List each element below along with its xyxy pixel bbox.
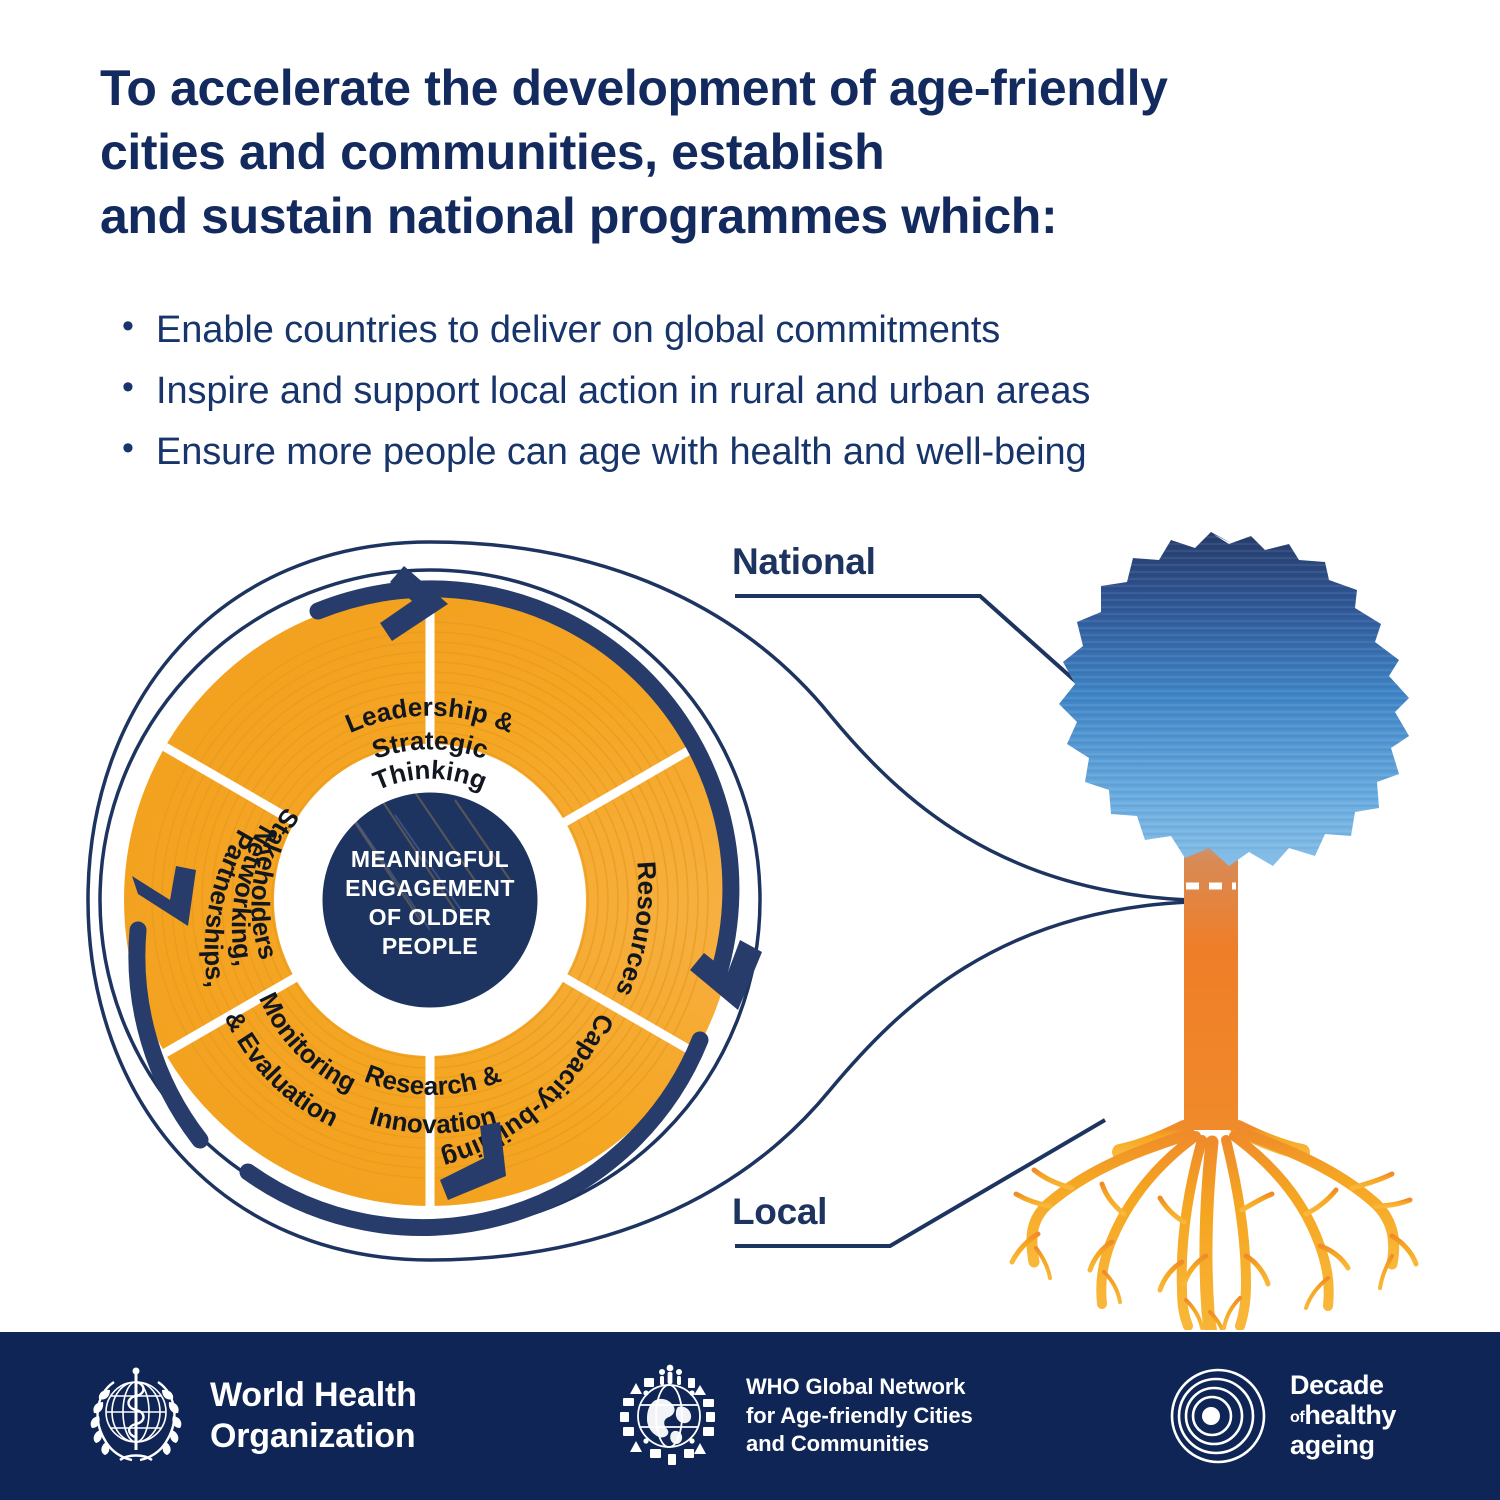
who-logo-text: World Health Organization — [210, 1375, 417, 1457]
headline-line-1: To accelerate the development of age-fri… — [100, 56, 1440, 120]
global-network-logo: WHO Global Network for Age-friendly Citi… — [610, 1332, 973, 1500]
decade-line-2: healthy — [1304, 1400, 1396, 1430]
bullet-text: Enable countries to deliver on global co… — [156, 303, 1000, 358]
bullet-text: Ensure more people can age with health a… — [156, 425, 1087, 480]
who-logo-line-2: Organization — [210, 1416, 417, 1457]
decade-line-3: ageing — [1290, 1431, 1396, 1461]
bullet-marker-icon: • — [100, 425, 156, 465]
decade-of-text: of — [1290, 1409, 1304, 1426]
gn-line-3: and Communities — [746, 1430, 973, 1459]
label-national: National — [732, 541, 876, 583]
who-logo: World Health Organization — [80, 1332, 417, 1500]
bullet-text: Inspire and support local action in rura… — [156, 364, 1090, 419]
headline-line-3: and sustain national programmes which: — [100, 184, 1440, 248]
decade-logo-text: Decade ofhealthy ageing — [1290, 1371, 1396, 1460]
gn-line-2: for Age-friendly Cities — [746, 1402, 973, 1431]
bullet-marker-icon: • — [100, 303, 156, 343]
bullet-marker-icon: • — [100, 364, 156, 404]
concentric-rings-icon — [1160, 1360, 1272, 1472]
gn-line-1: WHO Global Network — [746, 1373, 973, 1402]
decade-logo: Decade ofhealthy ageing — [1160, 1332, 1396, 1500]
diagram-area: MEANINGFUL ENGAGEMENT OF OLDER PEOPLE Le… — [0, 500, 1500, 1330]
tree-roots — [1012, 1128, 1416, 1330]
footer-bar: World Health Organization — [0, 1332, 1500, 1500]
global-network-logo-text: WHO Global Network for Age-friendly Citi… — [746, 1373, 973, 1459]
bullet-list: • Enable countries to deliver on global … — [100, 303, 1350, 486]
label-local: Local — [732, 1191, 827, 1233]
list-item: • Inspire and support local action in ru… — [100, 364, 1350, 419]
list-item: • Enable countries to deliver on global … — [100, 303, 1350, 358]
headline-line-2: cities and communities, establish — [100, 120, 1440, 184]
who-logo-line-1: World Health — [210, 1375, 417, 1416]
page-title: To accelerate the development of age-fri… — [100, 56, 1440, 248]
decade-line-1: Decade — [1290, 1371, 1396, 1401]
who-emblem-icon — [80, 1360, 192, 1472]
tree-canopy — [1000, 520, 1440, 866]
list-item: • Ensure more people can age with health… — [100, 425, 1350, 480]
decade-line-2-wrap: ofhealthy — [1290, 1401, 1396, 1431]
globe-city-icon — [610, 1357, 728, 1475]
